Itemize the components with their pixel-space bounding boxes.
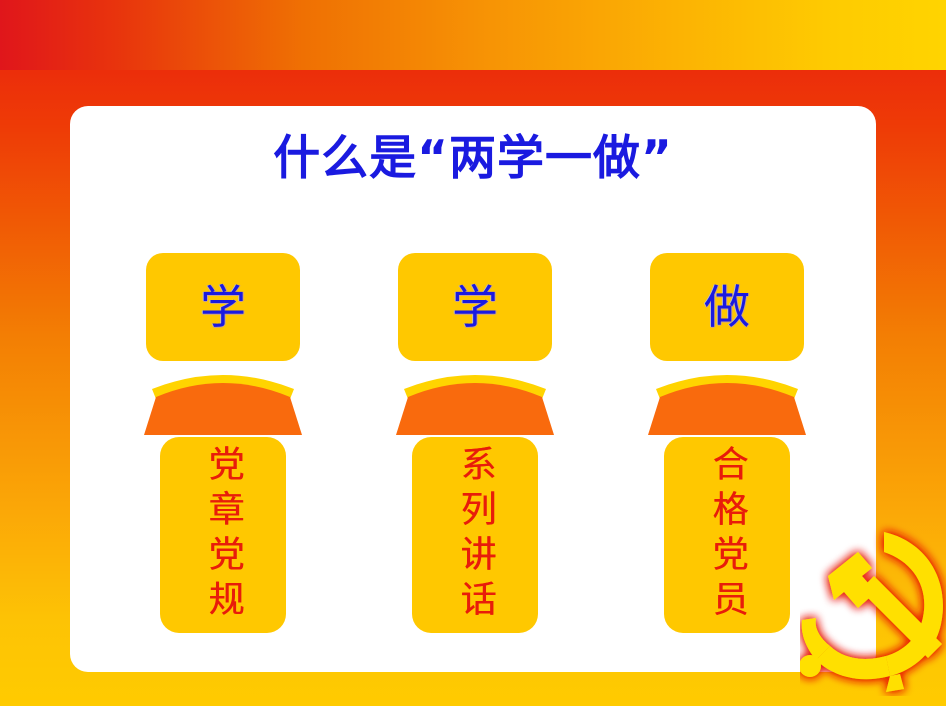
top-box-2[interactable]: 学 [398, 253, 552, 361]
columns-group: 学 党章党规 学 [70, 106, 876, 672]
hammer-and-sickle-icon [800, 516, 946, 696]
arch-connector-3 [634, 365, 820, 437]
top-box-label-3: 做 [704, 284, 750, 330]
column-1: 学 党章党规 [130, 253, 316, 633]
top-band-gradient [0, 0, 946, 70]
bottom-box-1[interactable]: 党章党规 [160, 437, 286, 633]
top-box-label-2: 学 [452, 284, 498, 330]
top-box-1[interactable]: 学 [146, 253, 300, 361]
bottom-box-3[interactable]: 合格党员 [664, 437, 790, 633]
content-card: 什么是“两学一做” 学 党章党规 [70, 106, 876, 672]
column-3: 做 合格党员 [634, 253, 820, 633]
bottom-box-label-3: 合格党员 [705, 445, 750, 625]
bottom-box-2[interactable]: 系列讲话 [412, 437, 538, 633]
top-box-label-1: 学 [200, 284, 246, 330]
bottom-box-label-1: 党章党规 [201, 445, 246, 625]
arch-connector-1 [130, 365, 316, 437]
bottom-box-label-2: 系列讲话 [453, 445, 498, 625]
top-box-3[interactable]: 做 [650, 253, 804, 361]
column-2: 学 系列讲话 [382, 253, 568, 633]
arch-connector-2 [382, 365, 568, 437]
slide-canvas: 什么是“两学一做” 学 党章党规 [0, 0, 946, 706]
